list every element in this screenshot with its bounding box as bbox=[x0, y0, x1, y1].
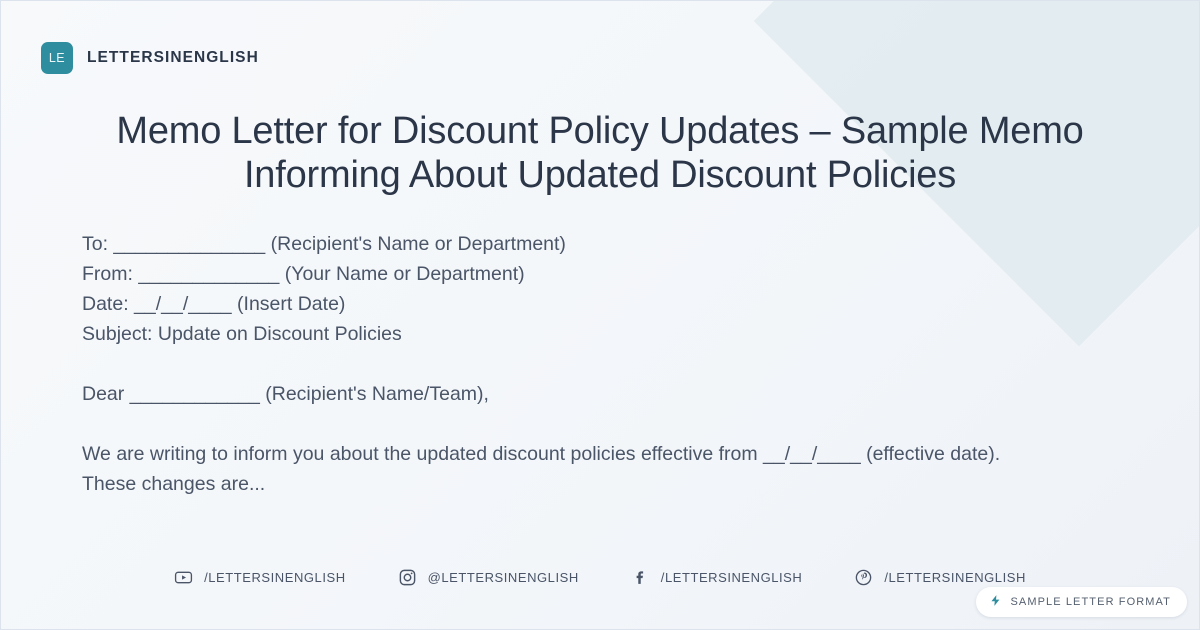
letter-subject-line: Subject: Update on Discount Policies bbox=[82, 319, 1082, 349]
pinterest-icon bbox=[854, 568, 873, 587]
letter-paragraph: We are writing to inform you about the u… bbox=[82, 439, 1022, 499]
letter-from-line: From: _____________ (Your Name or Depart… bbox=[82, 259, 1082, 289]
letter-spacer-2 bbox=[82, 409, 1082, 439]
social-item-pinterest[interactable]: /LETTERSINENGLISH bbox=[854, 568, 1026, 587]
letter-date-line: Date: __/__/____ (Insert Date) bbox=[82, 289, 1082, 319]
poster-canvas: LE LETTERSINENGLISH Memo Letter for Disc… bbox=[0, 0, 1200, 630]
letter-spacer-1 bbox=[82, 349, 1082, 379]
social-item-facebook[interactable]: /LETTERSINENGLISH bbox=[631, 568, 803, 587]
youtube-icon bbox=[174, 568, 193, 587]
lightning-bolt-icon bbox=[989, 594, 1002, 610]
badge-label: SAMPLE LETTER FORMAT bbox=[1010, 596, 1171, 608]
instagram-icon bbox=[398, 568, 417, 587]
social-item-instagram[interactable]: @LETTERSINENGLISH bbox=[398, 568, 579, 587]
footer-social-bar: /LETTERSINENGLISH @LETTERSINENGLISH /LET… bbox=[1, 568, 1199, 587]
page-title: Memo Letter for Discount Policy Updates … bbox=[1, 109, 1199, 197]
letter-salutation: Dear ____________ (Recipient's Name/Team… bbox=[82, 379, 1082, 409]
brand-name-label: LETTERSINENGLISH bbox=[87, 49, 259, 67]
facebook-icon bbox=[631, 568, 650, 587]
page-title-line-2: Informing About Updated Discount Policie… bbox=[244, 154, 956, 196]
page-title-line-1: Memo Letter for Discount Policy Updates … bbox=[116, 110, 1083, 152]
sample-letter-format-badge[interactable]: SAMPLE LETTER FORMAT bbox=[976, 587, 1187, 617]
letter-body: To: ______________ (Recipient's Name or … bbox=[82, 229, 1082, 499]
brand-header[interactable]: LE LETTERSINENGLISH bbox=[41, 42, 259, 74]
social-handle-pinterest: /LETTERSINENGLISH bbox=[884, 570, 1026, 585]
social-handle-youtube: /LETTERSINENGLISH bbox=[204, 570, 346, 585]
social-handle-instagram: @LETTERSINENGLISH bbox=[428, 570, 579, 585]
brand-logo-mark: LE bbox=[41, 42, 73, 74]
letter-to-line: To: ______________ (Recipient's Name or … bbox=[82, 229, 1082, 259]
social-handle-facebook: /LETTERSINENGLISH bbox=[661, 570, 803, 585]
social-item-youtube[interactable]: /LETTERSINENGLISH bbox=[174, 568, 346, 587]
